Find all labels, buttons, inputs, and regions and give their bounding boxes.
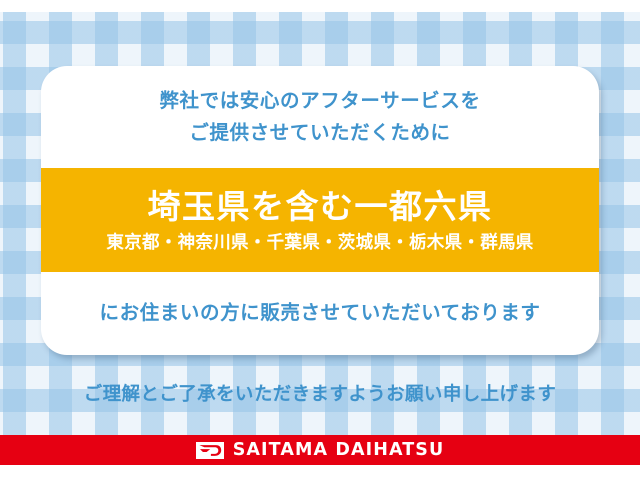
bottom-white-margin [0, 465, 640, 480]
highlight-heading: 埼玉県を含む一都六県 [148, 188, 493, 226]
brand-name: SAITAMA DAIHATSU [233, 440, 445, 460]
brand-banner: SAITAMA DAIHATSU [0, 435, 640, 465]
daihatsu-d-emblem-icon [196, 442, 224, 459]
intro-line-2: ご提供させていただくために [189, 119, 450, 147]
outro-line-1: にお住まいの方に販売させていただいております [99, 299, 540, 327]
promo-banner-image: 弊社では安心のアフターサービスを ご提供させていただくために 埼玉県を含む一都六… [0, 0, 640, 480]
card-outro-section: にお住まいの方に販売させていただいております [41, 272, 599, 355]
notice-card: 弊社では安心のアフターサービスを ご提供させていただくために 埼玉県を含む一都六… [41, 66, 599, 355]
card-intro-section: 弊社では安心のアフターサービスを ご提供させていただくために [41, 66, 599, 168]
prefecture-list: 東京都・神奈川県・千葉県・茨城県・栃木県・群馬県 [106, 233, 533, 254]
top-white-margin [0, 0, 640, 12]
intro-line-1: 弊社では安心のアフターサービスを [159, 87, 480, 115]
closing-note: ご理解とご了承をいただきますようお願い申し上げます [0, 380, 640, 406]
highlight-band: 埼玉県を含む一都六県 東京都・神奈川県・千葉県・茨城県・栃木県・群馬県 [41, 168, 599, 272]
